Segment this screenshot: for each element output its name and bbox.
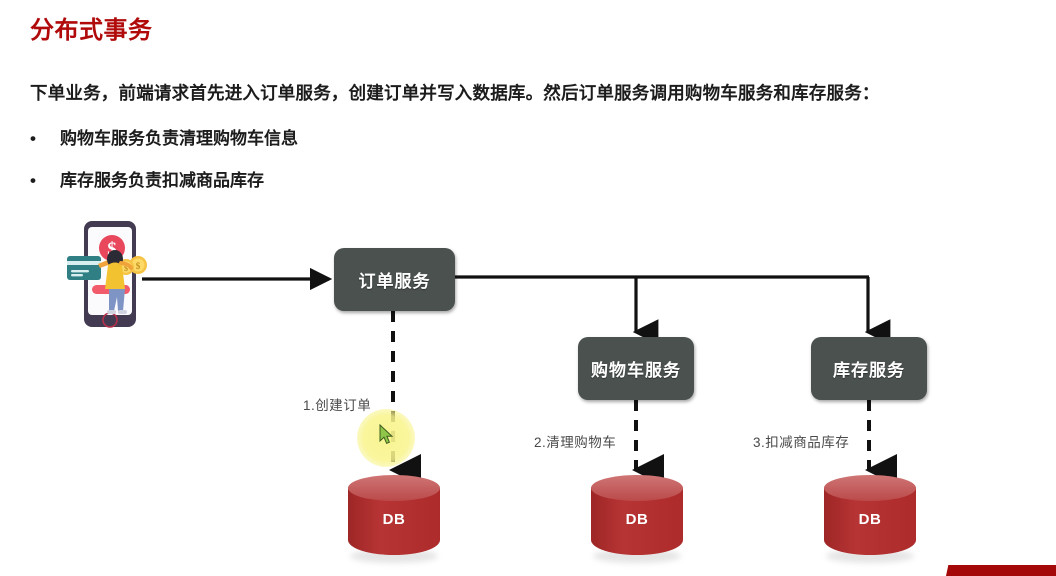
step-label-create-order: 1.创建订单 [303, 394, 371, 414]
step-label-deduct-stock: 3.扣减商品库存 [753, 431, 849, 451]
step-label-clear-cart: 2.清理购物车 [534, 431, 616, 451]
database-node-cart[interactable]: DB [591, 475, 683, 567]
database-top-ellipse [824, 475, 916, 501]
mouse-cursor-icon [379, 424, 395, 446]
database-node-stock[interactable]: DB [824, 475, 916, 567]
database-node-order[interactable]: DB [348, 475, 440, 567]
service-label: 购物车服务 [591, 356, 681, 381]
service-label: 订单服务 [359, 267, 431, 292]
architecture-diagram: $ $ $ 订单服务 购物车服务 库存服务 1.创建订单 2.清理购物车 3.扣… [0, 0, 1056, 576]
database-label: DB [591, 511, 683, 528]
database-top-ellipse [348, 475, 440, 501]
bottom-accent-bar [946, 565, 1056, 576]
service-node-order[interactable]: 订单服务 [334, 248, 455, 311]
service-node-cart[interactable]: 购物车服务 [578, 337, 694, 400]
mobile-payment-icon: $ $ $ [62, 215, 172, 335]
database-label: DB [824, 511, 916, 528]
database-top-ellipse [591, 475, 683, 501]
service-label: 库存服务 [833, 356, 905, 381]
database-label: DB [348, 511, 440, 528]
service-node-stock[interactable]: 库存服务 [811, 337, 927, 400]
svg-text:$: $ [136, 261, 141, 271]
